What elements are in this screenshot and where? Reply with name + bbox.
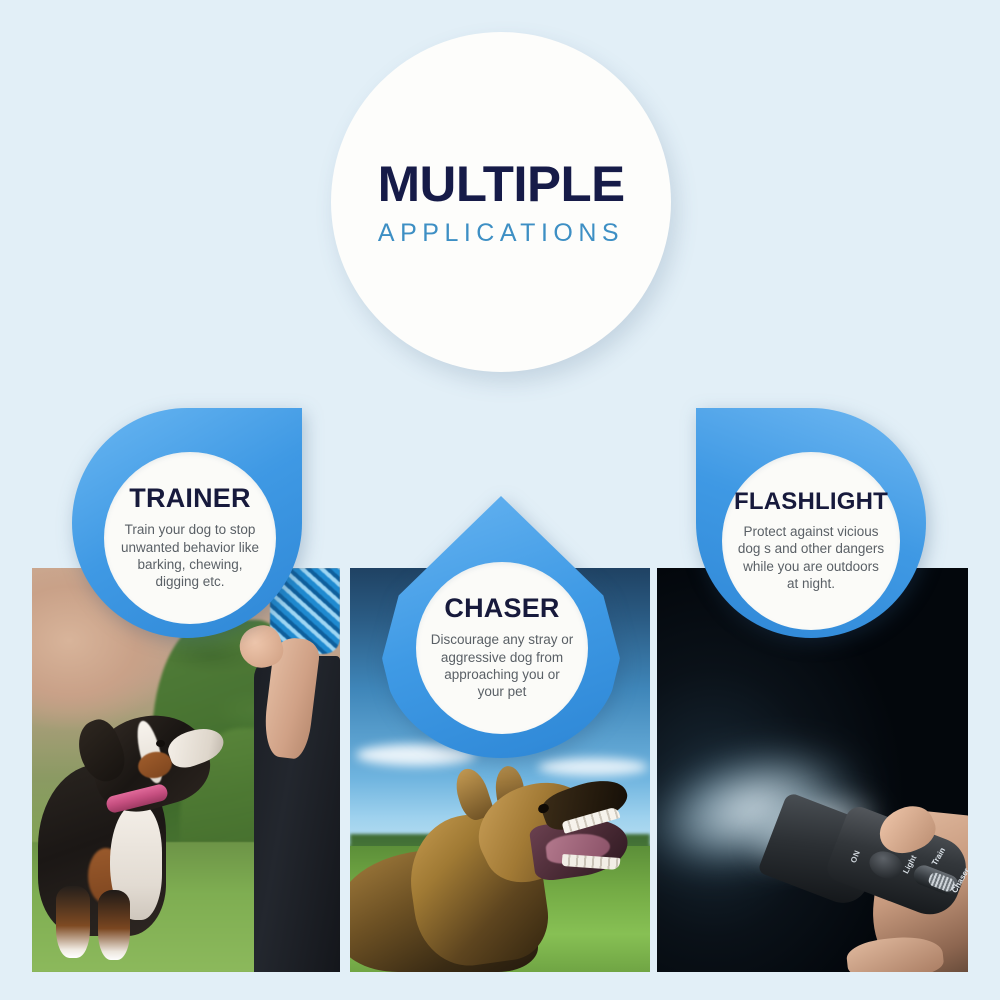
- badge-title-chaser: CHASER: [444, 595, 559, 622]
- badge-description-chaser: Discourage any stray or aggressive dog f…: [430, 631, 574, 700]
- page-title: MULTIPLE: [377, 159, 624, 209]
- puppy-front-leg-right: [98, 890, 130, 960]
- feature-badge-flashlight: FLASHLIGHT Protect against vicious dog s…: [696, 408, 926, 638]
- badge-content-circle: FLASHLIGHT Protect against vicious dog s…: [722, 452, 900, 630]
- feature-badge-trainer: TRAINER Train your dog to stop unwanted …: [72, 408, 302, 638]
- badge-description-trainer: Train your dog to stop unwanted behavior…: [118, 521, 262, 590]
- badge-content-circle: CHASER Discourage any stray or aggressiv…: [416, 562, 588, 734]
- badge-description-flashlight: Protect against vicious dog s and other …: [736, 523, 886, 592]
- feature-badge-chaser: CHASER Discourage any stray or aggressiv…: [382, 496, 620, 758]
- cloud: [538, 758, 648, 776]
- hero-badge: MULTIPLE APPLICATIONS: [331, 32, 671, 372]
- badge-title-flashlight: FLASHLIGHT: [734, 490, 888, 514]
- puppy-eye: [156, 740, 165, 747]
- infographic-canvas: MULTIPLE APPLICATIONS: [0, 0, 1000, 1000]
- badge-content-circle: TRAINER Train your dog to stop unwanted …: [104, 452, 276, 624]
- puppy-front-leg-left: [56, 886, 90, 958]
- page-subtitle: APPLICATIONS: [378, 221, 624, 246]
- badge-title-trainer: TRAINER: [129, 485, 250, 512]
